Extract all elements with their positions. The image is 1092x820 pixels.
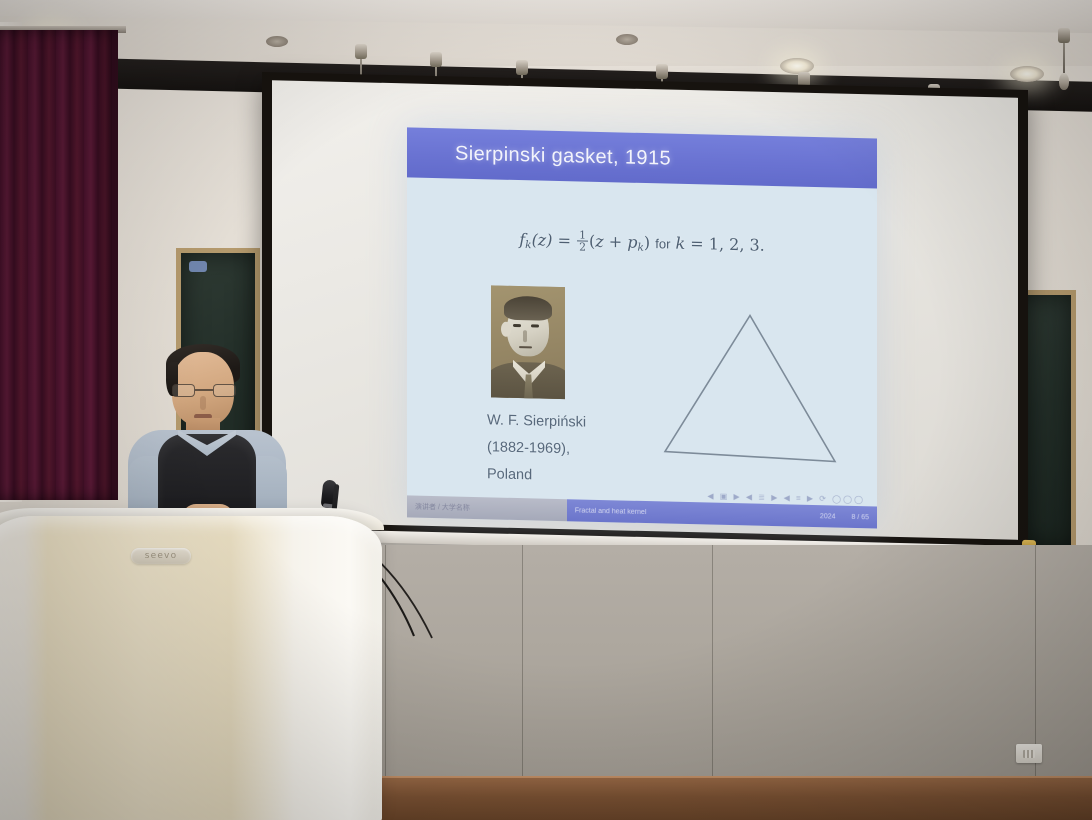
slide-footer-author: 演讲者 / 大学名称 (407, 495, 567, 521)
presenter (120, 344, 295, 534)
wall-panel-seam (712, 545, 713, 785)
wall-outlet (1016, 744, 1042, 763)
lecture-hall-photo: Sierpinski gasket, 1915 fk(z) = 12(z + p… (0, 0, 1092, 820)
slide-footer-page: 2024 8 / 65 (797, 505, 877, 529)
slide-formula: fk(z) = 12(z + pk) for k = 1, 2, 3. (407, 225, 877, 260)
ceiling-downlight (1010, 66, 1044, 82)
presenter-glasses (172, 384, 236, 397)
slide-title: Sierpinski gasket, 1915 (455, 142, 671, 170)
slide-body: fk(z) = 12(z + pk) for k = 1, 2, 3. (407, 177, 877, 528)
ceiling-fixture (266, 36, 288, 47)
outlet-slot (1023, 750, 1035, 758)
hanging-hook (1058, 28, 1070, 90)
stage-curtain (0, 30, 118, 500)
slide-footer-author-text: 演讲者 / 大学名称 (407, 501, 478, 513)
presenter-nose (200, 396, 206, 410)
chalkboard-sticker (189, 261, 207, 272)
podium (0, 516, 382, 820)
podium-brand-text: seevo (145, 551, 178, 561)
ceiling-fixture (616, 34, 638, 45)
slide-footer-date: 2024 (812, 512, 844, 520)
sierpinski-portrait (491, 285, 565, 399)
projection-screen-frame: Sierpinski gasket, 1915 fk(z) = 12(z + p… (262, 72, 1028, 552)
slide-footer-page-number: 8 / 65 (843, 513, 877, 521)
podium-brand-badge: seevo (131, 548, 191, 564)
slide-footer-title-text: Fractal and heat kernel (567, 507, 655, 516)
sierpinski-triangle-outline-icon (659, 301, 841, 475)
wall-panel-seam (522, 545, 523, 785)
presentation-slide: Sierpinski gasket, 1915 fk(z) = 12(z + p… (407, 127, 877, 528)
